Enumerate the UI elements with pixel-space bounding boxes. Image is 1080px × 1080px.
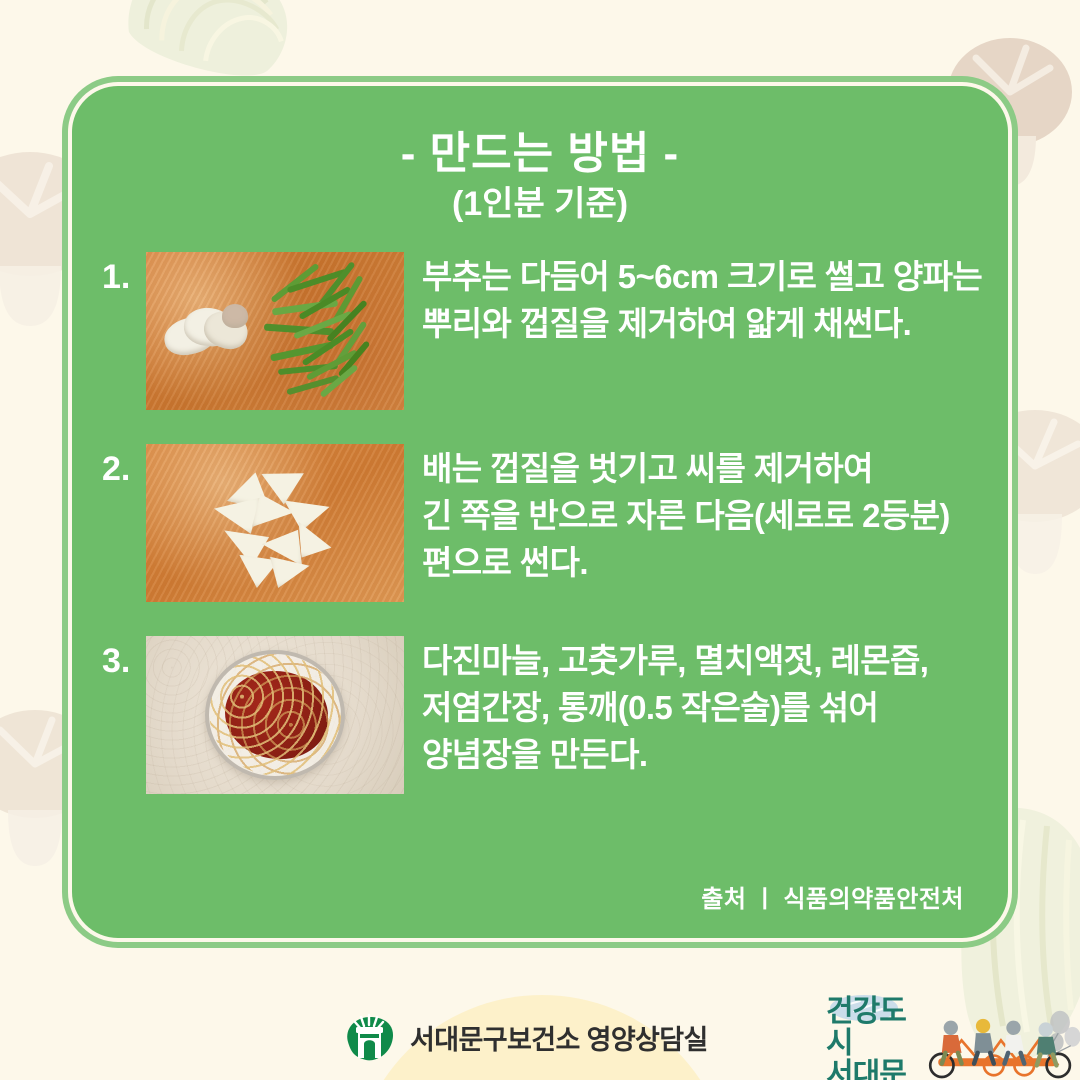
step-number: 1. (94, 252, 146, 297)
page-title: - 만드는 방법 - (72, 130, 1008, 178)
brand-line-2: 서대문 (826, 1059, 921, 1080)
step-text: 배는 껍질을 벗기고 씨를 제거하여 긴 쪽을 반으로 자른 다음(세로로 2등… (404, 444, 982, 587)
brand-line-1: 건강도시 (826, 995, 906, 1060)
independence-gate-icon (340, 1008, 398, 1066)
health-city-brand: 건강도시 서대문 (826, 996, 1080, 1080)
infographic-page: - 만드는 방법 - (1인분 기준) 1. (0, 0, 1080, 1080)
card-inner: - 만드는 방법 - (1인분 기준) 1. (72, 86, 1008, 938)
step-text-line: 편으로 썬다. (422, 540, 982, 587)
brand-text: 건강도시 서대문 (826, 996, 921, 1080)
health-center-footer: 서대문구보건소 영양상담실 (340, 1008, 708, 1066)
step-photo-chives-onion (146, 252, 404, 410)
health-center-label: 서대문구보건소 영양상담실 (410, 1018, 708, 1057)
step-text-line: 양념장을 만든다. (422, 732, 982, 779)
card-gap-ring: - 만드는 방법 - (1인분 기준) 1. (68, 82, 1012, 942)
sauce-bowl (205, 650, 345, 780)
step-item: 1. (94, 252, 982, 410)
step-number: 3. (94, 636, 146, 681)
step-text-line: 부추는 다듬어 5~6cm 크기로 썰고 양파는 (422, 254, 982, 301)
step-number: 2. (94, 444, 146, 489)
source-credit: 출처 ㅣ 식품의약품안전처 (701, 879, 964, 914)
step-text: 부추는 다듬어 5~6cm 크기로 썰고 양파는 뿌리와 껍질을 제거하여 얇게… (404, 252, 982, 348)
step-photo-sauce-bowl (146, 636, 404, 794)
step-text-line: 배는 껍질을 벗기고 씨를 제거하여 (422, 446, 982, 493)
step-text-line: 뿌리와 껍질을 제거하여 얇게 채썬다. (422, 301, 982, 348)
steps-list: 1. (72, 252, 1008, 794)
tandem-bicycle-icon (915, 1004, 1080, 1080)
card-header: - 만드는 방법 - (1인분 기준) (72, 86, 1008, 224)
step-photo-pear-slices (146, 444, 404, 602)
recipe-card: - 만드는 방법 - (1인분 기준) 1. (62, 76, 1018, 948)
step-text: 다진마늘, 고춧가루, 멸치액젓, 레몬즙, 저염간장, 통깨(0.5 작은술)… (404, 636, 982, 779)
step-item: 3. 다진마늘, 고춧가루, 멸치액젓, 레몬즙, 저염간장, 통깨(0.5 작… (94, 636, 982, 794)
step-item: 2. (94, 444, 982, 602)
step-text-line: 다진마늘, 고춧가루, 멸치액젓, 레몬즙, (422, 638, 982, 685)
step-text-line: 저염간장, 통깨(0.5 작은술)를 섞어 (422, 685, 982, 732)
page-subtitle: (1인분 기준) (72, 186, 1008, 223)
step-text-line: 긴 쪽을 반으로 자른 다음(세로로 2등분) (422, 493, 982, 540)
